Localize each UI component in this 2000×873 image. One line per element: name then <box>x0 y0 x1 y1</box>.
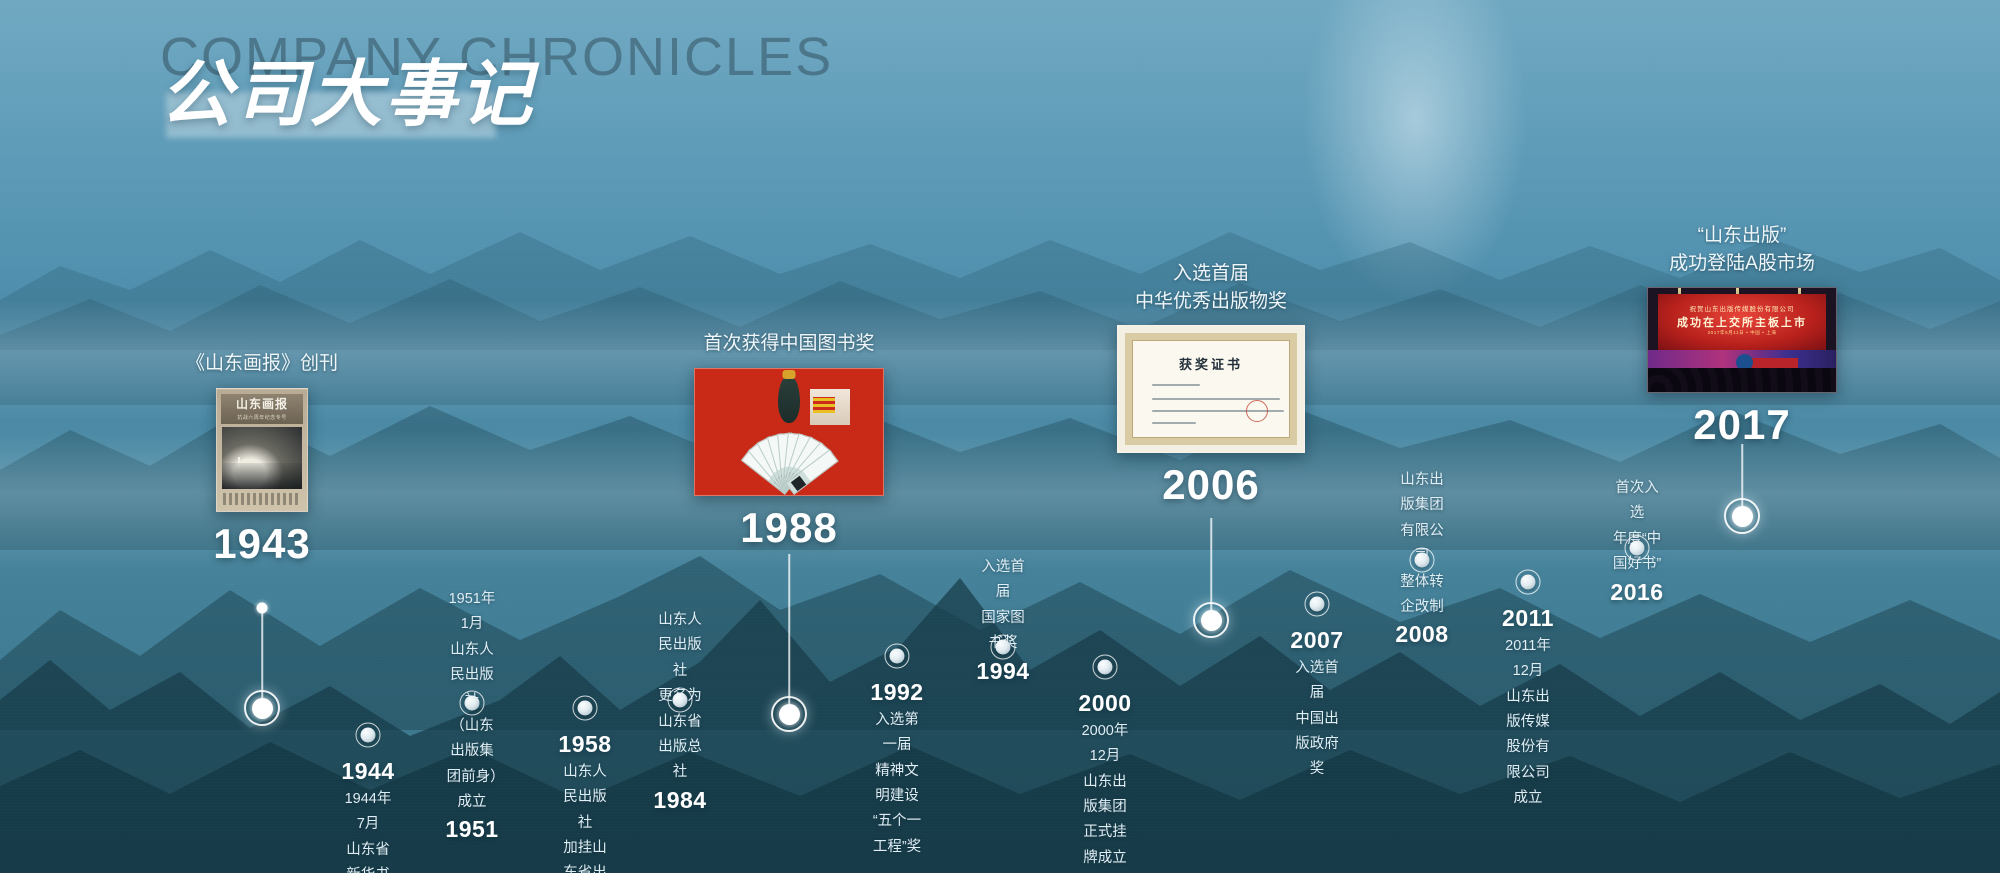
photo-award-certificate: 获奖证书 <box>1117 325 1305 453</box>
node-marker[interactable] <box>573 696 598 721</box>
node-sub: 首次入选 年度“中国好书” <box>1610 476 1663 578</box>
mountain-ridge-foreground <box>0 690 2000 873</box>
node-sub: 山东人民出版社 加挂山东省出版事业管理局牌子 <box>558 760 611 873</box>
node-year: 2000 <box>1078 689 1131 719</box>
photo-ipo-ceremony: 祝贺山东出版传媒股份有限公司 成功在上交所主板上市 2017年5月11日 • 中… <box>1647 287 1837 393</box>
node-marker[interactable] <box>668 688 693 713</box>
node-marker[interactable] <box>1093 655 1118 680</box>
certificate-title: 获奖证书 <box>1132 354 1290 373</box>
node-year: 2016 <box>1610 578 1663 608</box>
node-caption: “山东出版” 成功登陆A股市场 <box>1647 222 1837 277</box>
node-marker[interactable] <box>1516 570 1541 595</box>
node-year: 1958 <box>558 730 611 760</box>
node-marker[interactable] <box>1625 536 1650 561</box>
node-year: 1984 <box>653 786 706 816</box>
photo-shandong-pictorial: 山东画报抗战六周年纪念专号 <box>216 388 308 512</box>
node-stem-dot <box>257 603 268 614</box>
node-year: 2007 <box>1290 626 1343 656</box>
node-sub: 2011年12月 山东出版传媒 股份有限公司成立 <box>1502 634 1554 812</box>
node-caption: 《山东画报》创刊 <box>186 350 338 378</box>
node-sub: 山东出版集团有限公司 整体转企改制 <box>1395 468 1448 620</box>
page-header: COMPANY CHRONICLES 公司大事记 <box>160 30 833 134</box>
banner-line-2: 成功在上交所主板上市 <box>1658 314 1826 330</box>
node-marker[interactable] <box>1305 592 1330 617</box>
node-year: 1992 <box>870 678 923 708</box>
node-caption: 入选首届 中华优秀出版物奖 <box>1117 260 1305 315</box>
banner-line-3: 2017年5月11日 • 中国 • 上海 <box>1658 330 1826 336</box>
node-year: 1988 <box>694 502 884 555</box>
node-caption: 首次获得中国图书奖 <box>694 330 884 358</box>
node-marker[interactable] <box>356 723 381 748</box>
node-year: 2008 <box>1395 620 1448 650</box>
node-sub: 2000年12月 山东出版集团 正式挂牌成立 <box>1078 719 1131 871</box>
node-sub: 入选首届 中国出版政府奖 <box>1290 656 1343 783</box>
node-marker[interactable] <box>885 644 910 669</box>
photo-subtitle: 抗战六周年纪念专号 <box>221 414 303 421</box>
node-marker[interactable] <box>460 691 485 716</box>
node-marker[interactable] <box>244 690 280 726</box>
node-year: 2011 <box>1502 604 1554 634</box>
node-year: 1951 <box>445 815 498 845</box>
photo-title: 山东画报 <box>221 394 303 414</box>
node-sub: 入选第一届 精神文明建设 “五个一工程”奖 <box>870 708 923 860</box>
node-marker[interactable] <box>991 635 1016 660</box>
page-title: 公司大事记 <box>160 58 535 134</box>
node-sub: 1944年7月 山东省新华书店成立 <box>341 787 394 873</box>
node-year: 1944 <box>341 757 394 787</box>
photo-china-book-award <box>694 368 884 496</box>
banner-line-1: 祝贺山东出版传媒股份有限公司 <box>1658 303 1826 313</box>
node-stem <box>788 554 790 714</box>
node-marker[interactable] <box>1410 548 1435 573</box>
node-marker[interactable] <box>1193 602 1229 638</box>
node-year: 1994 <box>976 657 1029 687</box>
node-year: 1943 <box>186 518 338 571</box>
node-year: 2006 <box>1117 459 1305 512</box>
node-marker[interactable] <box>771 696 807 732</box>
page-title-wrap: 公司大事记 <box>160 58 535 134</box>
node-marker[interactable] <box>1724 498 1760 534</box>
